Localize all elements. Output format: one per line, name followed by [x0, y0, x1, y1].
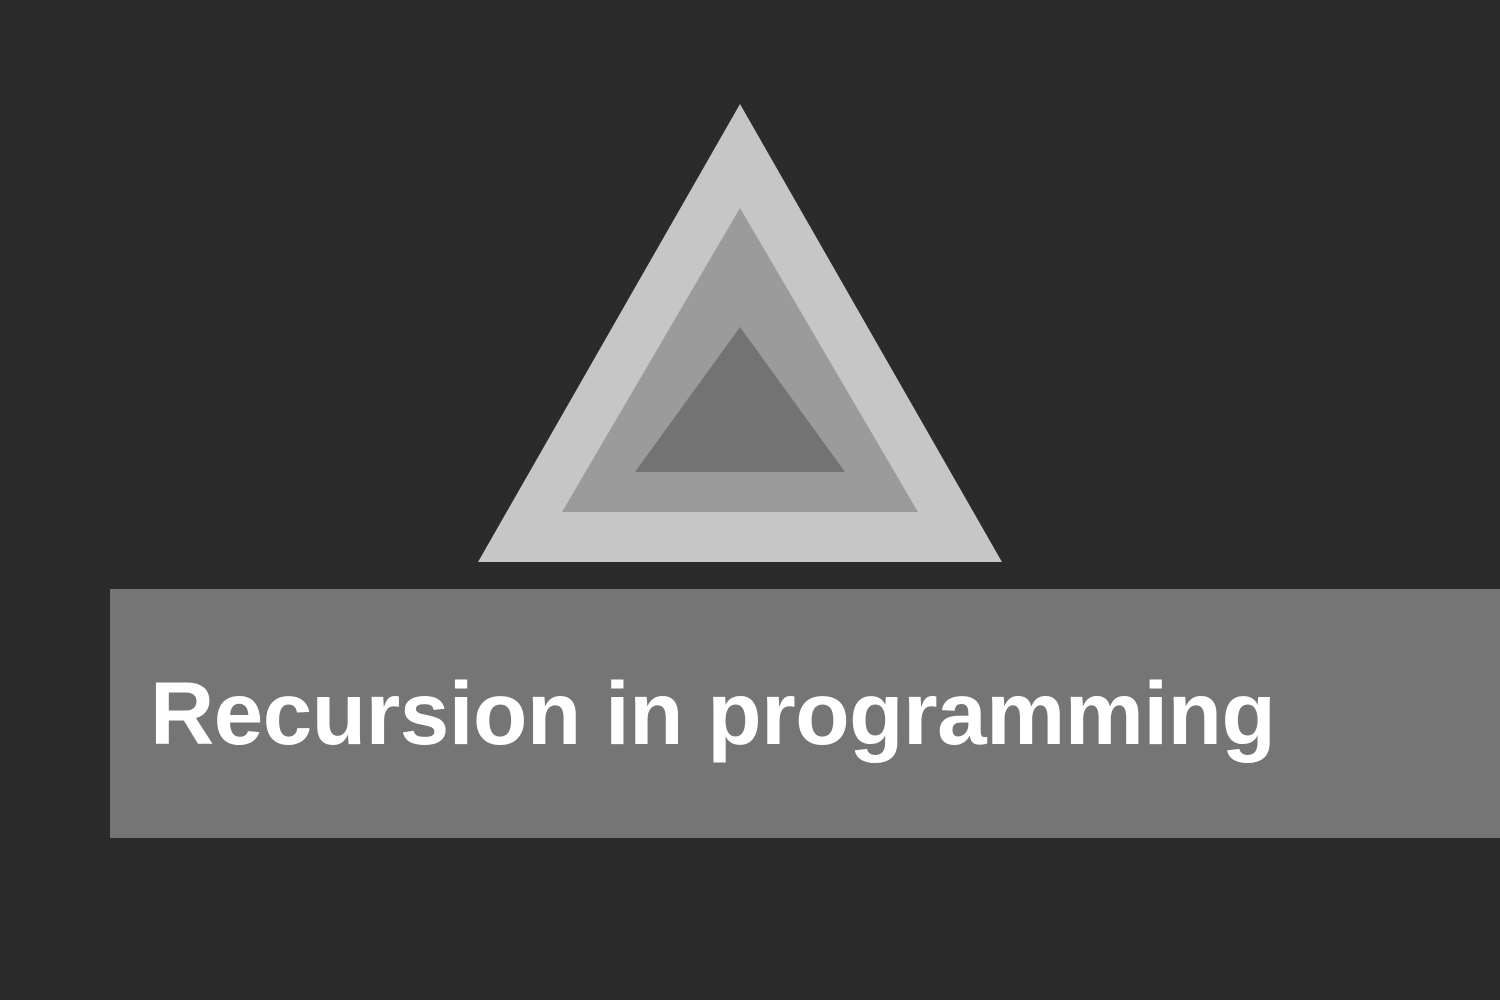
- caption-banner: Recursion in programming: [110, 589, 1500, 838]
- triangle-svg: [0, 0, 1500, 1000]
- recursive-triangle-figure: [0, 0, 1500, 1000]
- caption-title: Recursion in programming: [150, 589, 1275, 844]
- slide-canvas: Recursion in programming: [0, 0, 1500, 1000]
